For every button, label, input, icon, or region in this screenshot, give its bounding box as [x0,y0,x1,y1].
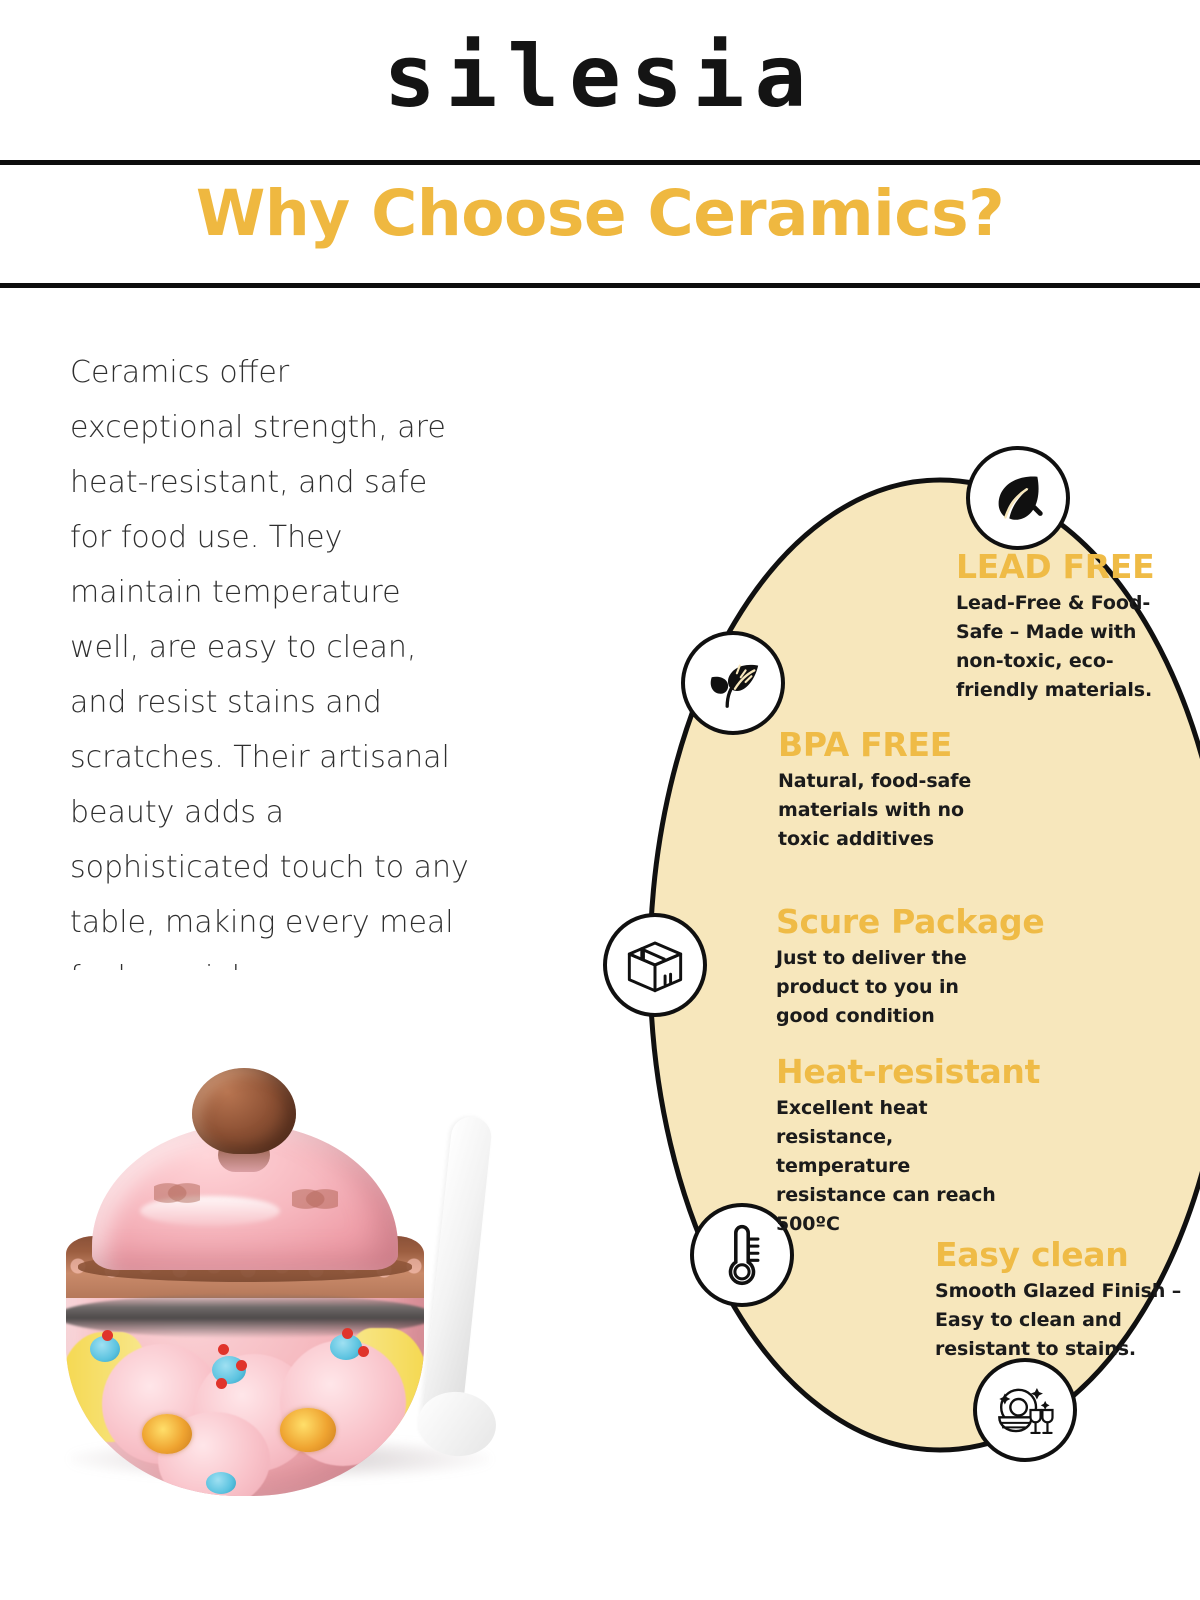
bowl-flower-center [280,1408,336,1452]
intro-paragraph: Ceramics offer exceptional strength, are… [70,345,470,970]
divider-top [0,160,1200,165]
feature-body: Natural, food-safe materials with no tox… [778,767,1008,854]
feature-heading: Scure Package [776,905,1016,940]
feature-body: Excellent heat resistance, temperature r… [776,1094,1006,1239]
feature-body: Just to deliver the product to you in go… [776,944,1016,1031]
sprout-icon [702,652,764,714]
page-title: Why Choose Ceramics? [0,182,1200,245]
bowl-red-dot [218,1344,229,1355]
box-icon [622,932,688,998]
bowl-red-dot [216,1378,227,1389]
badge-easy-clean [973,1358,1077,1462]
bowl-red-dot [102,1330,113,1341]
intro-paragraph-container: Ceramics offer exceptional strength, are… [70,345,470,970]
feature-heat-resistant: Heat-resistant Excellent heat resistance… [776,1055,1006,1239]
leaf-icon [987,467,1049,529]
feature-body: Lead-Free & Food-Safe – Made with non-to… [956,589,1186,705]
feature-bpa-free: BPA FREE Natural, food-safe materials wi… [778,728,1008,854]
benefits-infographic: LEAD FREE Lead-Free & Food-Safe – Made w… [600,420,1200,1500]
bowl-blue-accent [206,1472,236,1494]
feature-heading: BPA FREE [778,728,1008,763]
brand-logo: silesia [0,30,1200,125]
infographic-page: silesia Why Choose Ceramics? Ceramics of… [0,0,1200,1600]
feature-body: Smooth Glazed Finish – Easy to clean and… [935,1277,1185,1364]
feature-easy-clean: Easy clean Smooth Glazed Finish – Easy t… [935,1238,1185,1364]
bowl-red-dot [342,1328,353,1339]
feature-heading: Easy clean [935,1238,1185,1273]
product-image [40,1020,560,1540]
badge-scure-package [603,913,707,1017]
bowl-red-dot [236,1360,247,1371]
lid-butterfly-motif [154,1176,200,1210]
feature-heading: Heat-resistant [776,1055,1006,1090]
divider-bottom [0,283,1200,288]
badge-lead-free [966,446,1070,550]
bowl-flower-center [142,1414,192,1454]
thermometer-icon [712,1224,772,1286]
bowl-red-dot [358,1346,369,1357]
feature-lead-free: LEAD FREE Lead-Free & Food-Safe – Made w… [956,550,1186,705]
dishes-icon [992,1377,1058,1443]
feature-heading: LEAD FREE [956,550,1186,585]
lid-knob [192,1068,296,1154]
badge-bpa-free [681,631,785,735]
lid-butterfly-motif [292,1182,338,1216]
feature-scure-package: Scure Package Just to deliver the produc… [776,905,1016,1031]
